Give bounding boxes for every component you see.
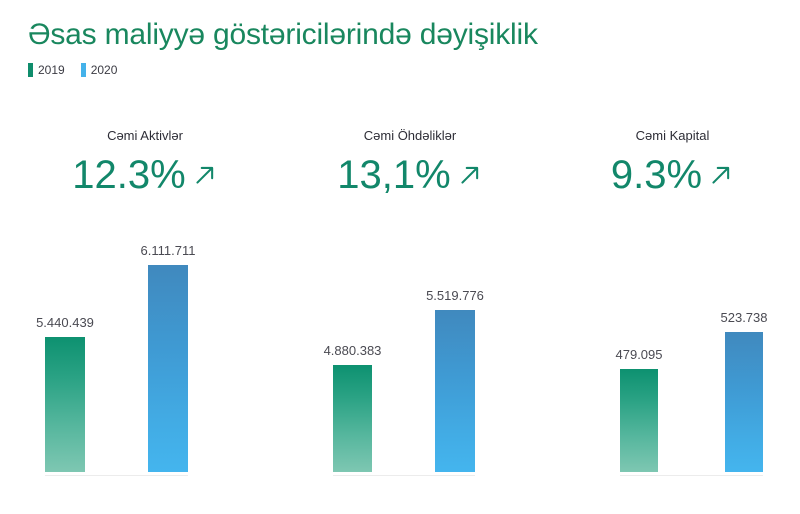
bar-label-capital-2019: 479.095 (616, 347, 663, 362)
bar-liabilities-2019[interactable]: 4.880.383 (333, 365, 372, 472)
bar-chart: 5.440.439 6.111.711 4.880.383 5.519.776 … (0, 0, 800, 514)
group-baseline (333, 475, 475, 476)
bar-label-liabilities-2019: 4.880.383 (324, 343, 382, 358)
bar-label-capital-2020: 523.738 (721, 310, 768, 325)
bar-label-assets-2020: 6.111.711 (141, 243, 196, 258)
bar-capital-2020[interactable]: 523.738 (725, 332, 763, 472)
group-baseline (45, 475, 188, 476)
bar-label-liabilities-2020: 5.519.776 (426, 288, 484, 303)
group-baseline (620, 475, 763, 476)
bar-assets-2019[interactable]: 5.440.439 (45, 337, 85, 472)
bar-capital-2019[interactable]: 479.095 (620, 369, 658, 472)
bar-label-assets-2019: 5.440.439 (36, 315, 94, 330)
bar-assets-2020[interactable]: 6.111.711 (148, 265, 188, 472)
bar-liabilities-2020[interactable]: 5.519.776 (435, 310, 475, 472)
